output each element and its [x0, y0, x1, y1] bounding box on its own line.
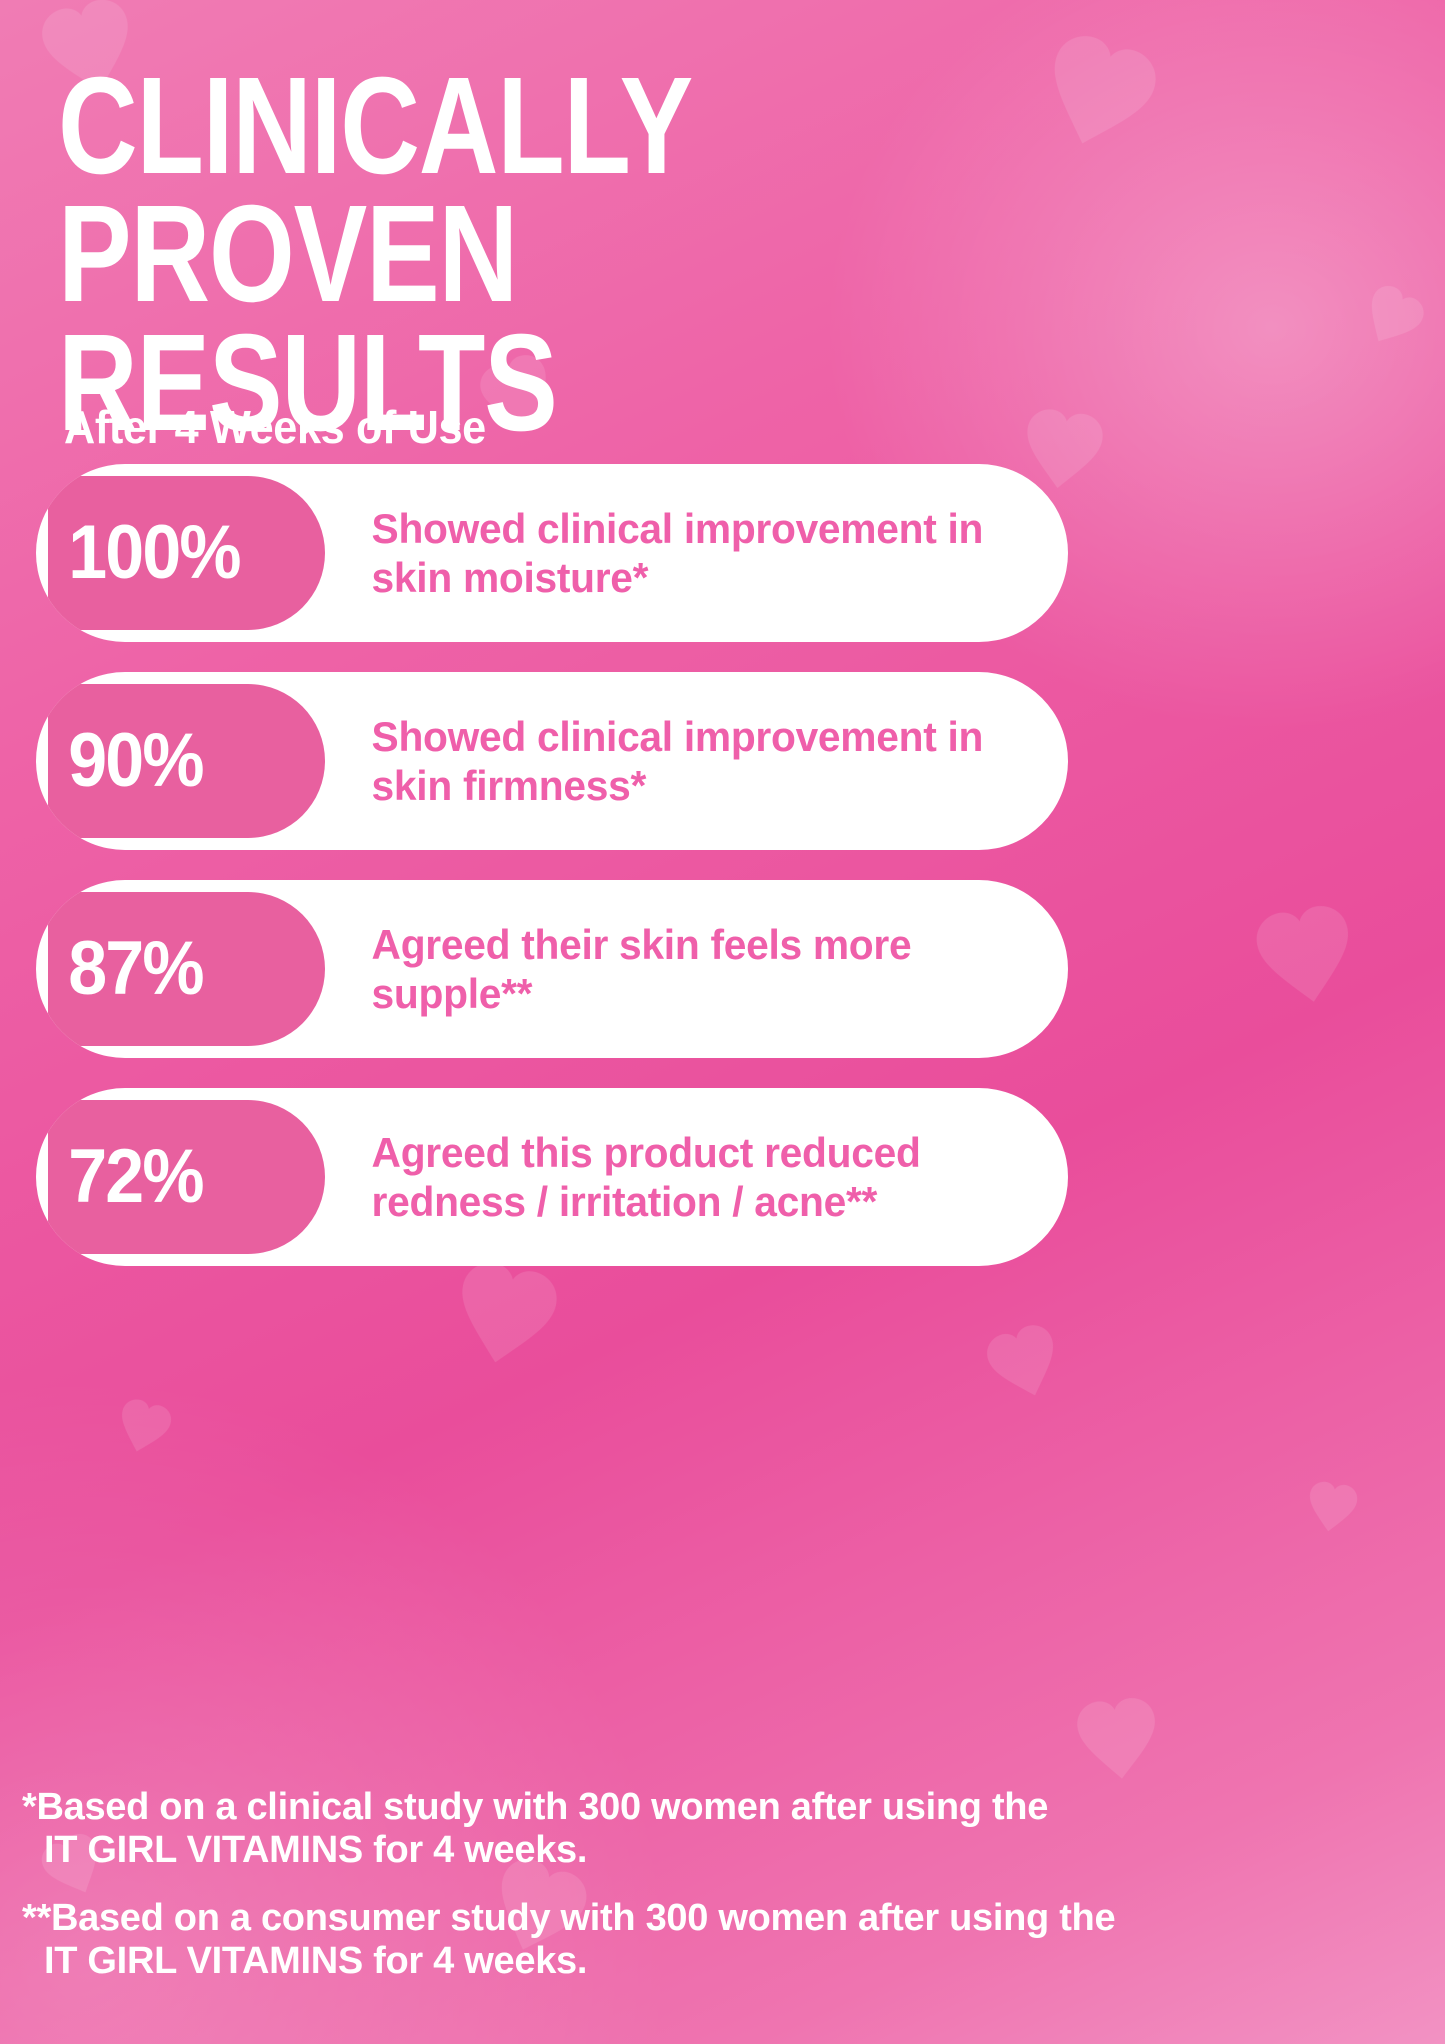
stat-card: 100% Showed clinical improvement in skin… — [36, 464, 1068, 642]
stat-card: 72% Agreed this product reduced redness … — [36, 1088, 1068, 1266]
stat-card: 87% Agreed their skin feels more supple*… — [36, 880, 1068, 1058]
stat-percent-value: 90% — [48, 723, 203, 799]
footnote-line-1: **Based on a consumer study with 300 wom… — [22, 1897, 1422, 1940]
stat-percent-pill: 72% — [48, 1100, 325, 1254]
stat-description: Showed clinical improvement in skin firm… — [325, 672, 1046, 850]
stat-percent-pill: 100% — [48, 476, 325, 630]
stat-card-list: 100% Showed clinical improvement in skin… — [36, 464, 1068, 1296]
stat-card: 90% Showed clinical improvement in skin … — [36, 672, 1068, 850]
stat-percent-value: 87% — [48, 931, 203, 1007]
footnote-line-1: *Based on a clinical study with 300 wome… — [22, 1786, 1422, 1829]
stat-percent-value: 100% — [48, 515, 240, 591]
page-title: CLINICALLY PROVEN RESULTS — [58, 62, 1018, 447]
stat-percent-pill: 90% — [48, 684, 325, 838]
footnote-line-2: IT GIRL VITAMINS for 4 weeks. — [22, 1829, 1422, 1872]
footnote: **Based on a consumer study with 300 wom… — [22, 1897, 1422, 1982]
footnote: *Based on a clinical study with 300 wome… — [22, 1786, 1422, 1871]
footnote-list: *Based on a clinical study with 300 wome… — [22, 1786, 1422, 2008]
stat-description: Showed clinical improvement in skin mois… — [325, 464, 1046, 642]
stat-description: Agreed this product reduced redness / ir… — [325, 1088, 1046, 1266]
stat-description: Agreed their skin feels more supple** — [325, 880, 1046, 1058]
poster-content: CLINICALLY PROVEN RESULTS After 4 Weeks … — [0, 0, 1445, 2044]
stat-percent-value: 72% — [48, 1139, 203, 1215]
stat-percent-pill: 87% — [48, 892, 325, 1046]
footnote-line-2: IT GIRL VITAMINS for 4 weeks. — [22, 1940, 1422, 1983]
subtitle: After 4 Weeks of Use — [64, 400, 486, 454]
